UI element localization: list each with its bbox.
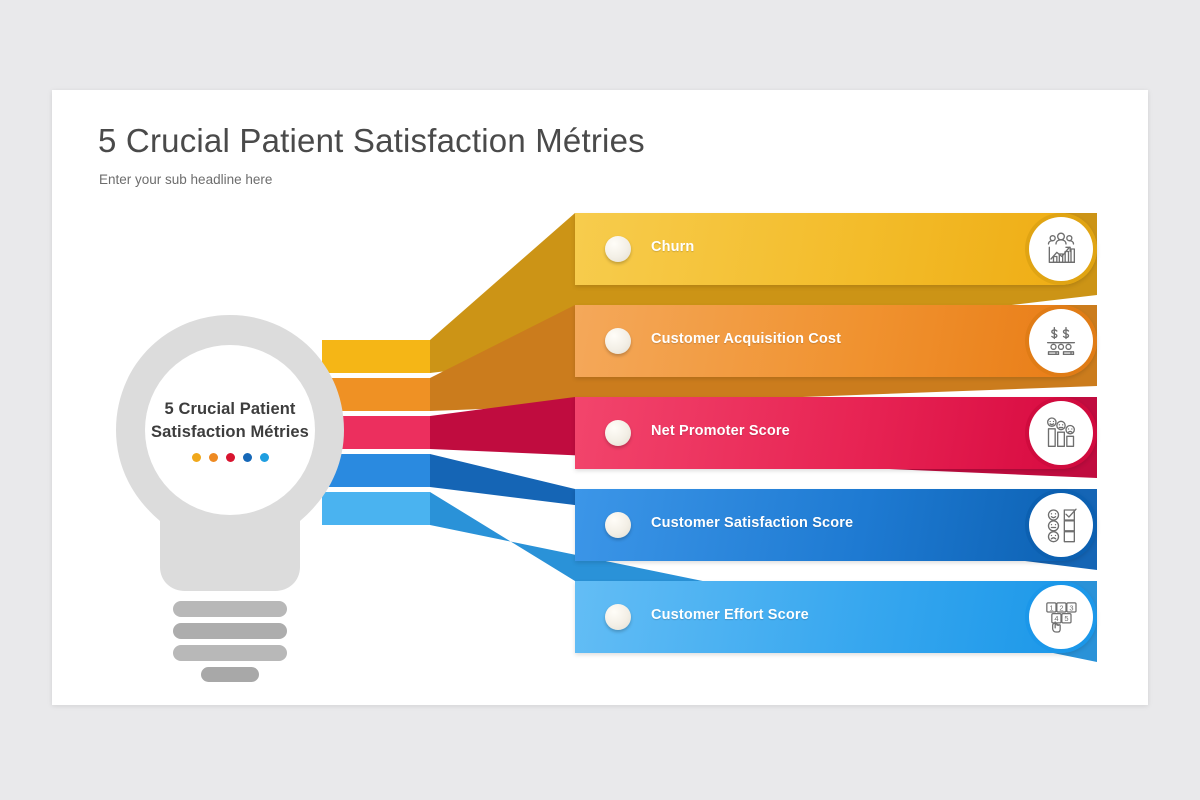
metric-bullet: [605, 512, 631, 538]
bulb-text-line-2: Satisfaction Métries: [151, 423, 309, 441]
metric-bar-customer-acquisition-cost[interactable]: Customer Acquisition Cost: [575, 305, 1097, 377]
metric-bullet: [605, 420, 631, 446]
bulb-dot-2: [209, 453, 218, 462]
bulb-dot-5: [260, 453, 269, 462]
metric-label: Customer Satisfaction Score: [651, 515, 853, 531]
bulb-base-bar-3: [173, 645, 287, 661]
metric-bar-customer-satisfaction-score[interactable]: Customer Satisfaction Score: [575, 489, 1097, 561]
face-rating-bars-icon[interactable]: [1029, 401, 1093, 465]
metric-bullet: [605, 604, 631, 630]
number-keypad-hand-icon[interactable]: 1 2 3 4 5: [1029, 585, 1093, 649]
slide-card: 5 Crucial Patient Satisfaction Métries E…: [52, 90, 1148, 705]
growth-chart-people-icon[interactable]: [1029, 217, 1093, 281]
metric-bar-churn[interactable]: Churn: [575, 213, 1097, 285]
svg-text:1: 1: [1049, 603, 1053, 612]
metric-bullet: [605, 236, 631, 262]
lightbulb: 5 Crucial Patient Satisfaction Métries: [100, 305, 360, 685]
dollar-people-icon[interactable]: [1029, 309, 1093, 373]
metric-bullet: [605, 328, 631, 354]
metric-label: Customer Acquisition Cost: [651, 331, 841, 347]
metric-label: Customer Effort Score: [651, 607, 809, 623]
svg-text:5: 5: [1064, 614, 1068, 623]
bulb-color-dots: [100, 453, 360, 462]
bulb-base-bar-4: [201, 667, 259, 682]
bulb-text-line-1: 5 Crucial Patient: [165, 400, 296, 418]
bulb-dot-3: [226, 453, 235, 462]
bulb-base-bar-1: [173, 601, 287, 617]
svg-text:2: 2: [1059, 603, 1063, 612]
metric-label: Churn: [651, 239, 694, 255]
infographic-stage: 5 Crucial Patient Satisfaction Métries C…: [52, 90, 1148, 705]
metric-label: Net Promoter Score: [651, 423, 790, 439]
bulb-dot-4: [243, 453, 252, 462]
bulb-center-text: 5 Crucial Patient Satisfaction Métries: [100, 398, 360, 444]
metric-bar-net-promoter-score[interactable]: Net Promoter Score: [575, 397, 1097, 469]
lightbulb-shape: [100, 305, 360, 685]
smiley-checklist-icon[interactable]: [1029, 493, 1093, 557]
metric-bar-customer-effort-score[interactable]: Customer Effort Score 1 2 3 4 5: [575, 581, 1097, 653]
bulb-base-bar-2: [173, 623, 287, 639]
bulb-dot-1: [192, 453, 201, 462]
svg-text:3: 3: [1069, 603, 1073, 612]
